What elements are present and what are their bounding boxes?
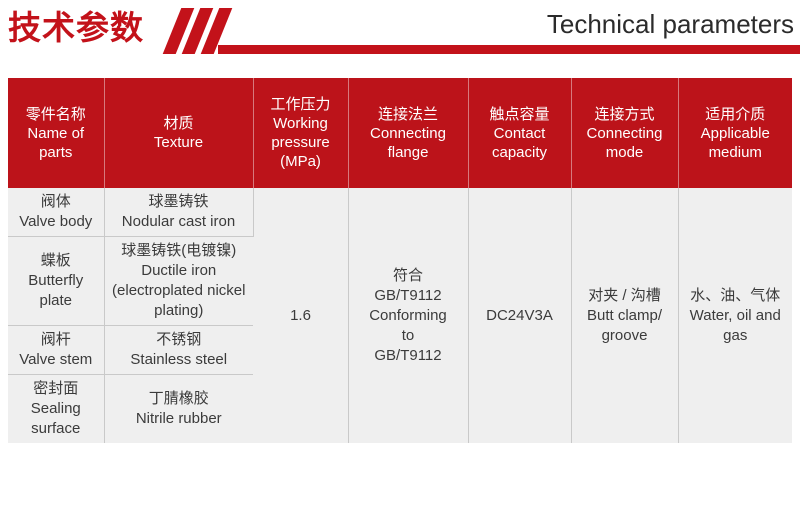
material-en: Ductile iron (electroplated nickel plati…: [108, 261, 251, 321]
header-en: Working pressure: [257, 114, 345, 152]
cell-working-pressure: 1.6: [253, 188, 348, 443]
material-en: Nitrile rubber: [108, 409, 251, 429]
cell-material: 球墨铸铁 Nodular cast iron: [104, 188, 253, 237]
header-unit: (MPa): [257, 152, 345, 171]
spec-table-wrapper: 零件名称 Name of parts 材质 Texture 工作压力 Worki…: [8, 78, 792, 443]
header-en: Texture: [108, 133, 250, 152]
flange-line-3: Conforming: [352, 306, 465, 326]
mode-line-2: Butt clamp/: [575, 306, 675, 326]
part-cn: 阀杆: [11, 330, 101, 350]
header-cn: 材质: [108, 114, 250, 133]
cell-connecting-flange: 符合 GB/T9112 Conforming to GB/T9112: [348, 188, 468, 443]
flange-line-5: GB/T9112: [352, 346, 465, 366]
table-header-row: 零件名称 Name of parts 材质 Texture 工作压力 Worki…: [8, 78, 792, 188]
header-cn: 连接法兰: [352, 105, 465, 124]
column-header-working-pressure: 工作压力 Working pressure (MPa): [253, 78, 348, 188]
medium-line-1: 水、油、气体: [682, 286, 790, 306]
cell-part-name: 阀杆 Valve stem: [8, 326, 104, 375]
material-en: Nodular cast iron: [108, 212, 250, 232]
header-en: Contact capacity: [472, 124, 568, 162]
mode-line-3: groove: [575, 326, 675, 346]
header-en: Applicable medium: [682, 124, 790, 162]
cell-applicable-medium: 水、油、气体 Water, oil and gas: [678, 188, 792, 443]
header-en: Connecting flange: [352, 124, 465, 162]
page-header: 技术参数 Technical parameters: [0, 0, 800, 70]
cell-material: 球墨铸铁(电镀镍) Ductile iron (electroplated ni…: [104, 237, 253, 326]
column-header-connecting-mode: 连接方式 Connecting mode: [571, 78, 678, 188]
column-header-applicable-medium: 适用介质 Applicable medium: [678, 78, 792, 188]
header-cn: 工作压力: [257, 95, 345, 114]
material-cn: 球墨铸铁: [108, 192, 250, 212]
material-cn: 球墨铸铁(电镀镍): [108, 241, 251, 261]
part-en: Valve body: [11, 212, 101, 232]
header-rule: [218, 45, 800, 54]
header-en: Connecting mode: [575, 124, 675, 162]
column-header-texture: 材质 Texture: [104, 78, 253, 188]
page-title-cn: 技术参数: [8, 6, 144, 50]
flange-line-1: 符合: [352, 266, 465, 286]
cell-material: 丁腈橡胶 Nitrile rubber: [104, 375, 253, 444]
header-cn: 连接方式: [575, 105, 675, 124]
cell-material: 不锈钢 Stainless steel: [104, 326, 253, 375]
header-cn: 触点容量: [472, 105, 568, 124]
page-title-en: Technical parameters: [547, 6, 794, 42]
part-en: Butterfly plate: [11, 271, 101, 311]
flange-line-4: to: [352, 326, 465, 346]
cell-contact-capacity: DC24V3A: [468, 188, 571, 443]
material-cn: 不锈钢: [108, 330, 251, 350]
cell-part-name: 阀体 Valve body: [8, 188, 104, 237]
medium-line-2: Water, oil and: [682, 306, 790, 326]
table-row: 阀体 Valve body 球墨铸铁 Nodular cast iron 1.6…: [8, 188, 792, 237]
header-cn: 适用介质: [682, 105, 790, 124]
page-root: 技术参数 Technical parameters 零件名称 Name of p…: [0, 0, 800, 510]
part-cn: 蝶板: [11, 251, 101, 271]
header-en: Name of parts: [11, 124, 101, 162]
part-cn: 密封面: [11, 379, 101, 399]
part-cn: 阀体: [11, 192, 101, 212]
column-header-contact-capacity: 触点容量 Contact capacity: [468, 78, 571, 188]
spec-table: 零件名称 Name of parts 材质 Texture 工作压力 Worki…: [8, 78, 792, 443]
cell-part-name: 密封面 Sealing surface: [8, 375, 104, 444]
header-cn: 零件名称: [11, 105, 101, 124]
material-en: Stainless steel: [108, 350, 251, 370]
column-header-connecting-flange: 连接法兰 Connecting flange: [348, 78, 468, 188]
cell-connecting-mode: 对夹 / 沟槽 Butt clamp/ groove: [571, 188, 678, 443]
mode-line-1: 对夹 / 沟槽: [575, 286, 675, 306]
flange-line-2: GB/T9112: [352, 286, 465, 306]
cell-part-name: 蝶板 Butterfly plate: [8, 237, 104, 326]
medium-line-3: gas: [682, 326, 790, 346]
part-en: Valve stem: [11, 350, 101, 370]
column-header-name-of-parts: 零件名称 Name of parts: [8, 78, 104, 188]
material-cn: 丁腈橡胶: [108, 389, 251, 409]
part-en: Sealing surface: [11, 399, 101, 439]
